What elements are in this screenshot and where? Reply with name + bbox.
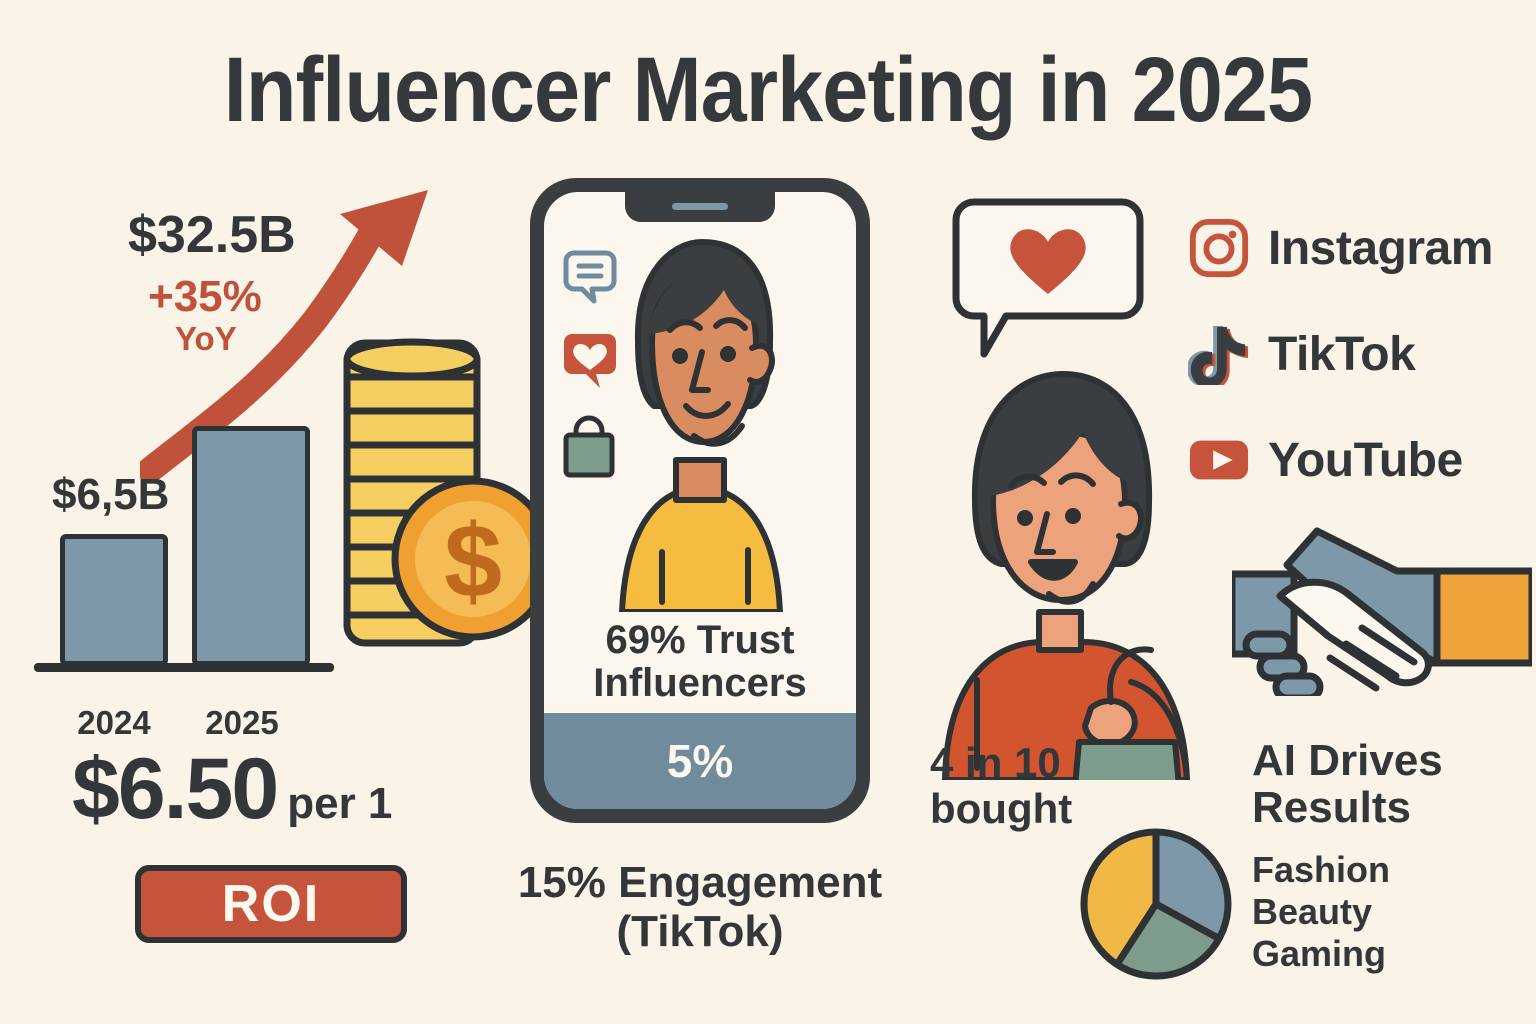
svg-text:$: $ [444, 504, 502, 620]
platform-list: Instagram TikTok YouTube [1188, 206, 1493, 524]
shopper-caption-line-1: 4 in 10 [930, 740, 1072, 786]
trust-line-1: 69% Trust [544, 619, 856, 662]
ai-category-gaming: Gaming [1252, 933, 1522, 975]
phone-screen: 69% Trust Influencers 5% [544, 192, 856, 809]
platform-row-instagram[interactable]: Instagram [1188, 206, 1493, 290]
engagement-badge-value: 5% [667, 734, 733, 788]
spend-bar-chart: 2024 2025 [30, 420, 370, 690]
phone-icon-column [558, 247, 624, 484]
platform-row-tiktok[interactable]: TikTok [1188, 312, 1493, 396]
heart-speech-bubble [948, 196, 1148, 371]
phone-caption: 15% Engagement (TikTok) [460, 858, 940, 957]
roi-value-line: $6.50 per 1 [72, 740, 392, 839]
phone-caption-line-2: (TikTok) [460, 907, 940, 956]
phone-notch [625, 192, 775, 222]
categories-pie-chart [1078, 826, 1234, 987]
trust-line-2: Influencers [544, 662, 856, 705]
ai-results-block: AI Drives Results Fashion Beauty Gaming [1252, 738, 1522, 976]
platform-label-tiktok: TikTok [1268, 327, 1415, 382]
shopper-illustration [915, 350, 1225, 785]
ai-heading-line-2: Results [1252, 785, 1522, 832]
youtube-icon [1188, 429, 1250, 491]
shopper-caption-line-2: bought [930, 786, 1072, 832]
ai-category-beauty: Beauty [1252, 891, 1522, 933]
comment-icon [558, 247, 622, 311]
tiktok-icon [1188, 323, 1250, 385]
shopping-bag-icon [558, 413, 620, 479]
shopper-caption: 4 in 10 bought [930, 740, 1072, 832]
page-title: Influencer Marketing in 2025 [77, 38, 1459, 143]
platform-label-instagram: Instagram [1268, 221, 1493, 276]
trust-stat-panel: 69% Trust Influencers [544, 613, 856, 713]
heart-icon [558, 330, 622, 396]
phone-caption-line-1: 15% Engagement [460, 858, 940, 907]
roi-button[interactable]: ROI [135, 865, 407, 943]
instagram-icon [1188, 217, 1250, 279]
roi-amount: $6.50 [72, 740, 277, 839]
yoy-change-value: +35% [148, 272, 262, 322]
handshake-icon [1232, 516, 1532, 701]
coin-stack-icon: $ [335, 325, 550, 680]
ai-category-list: Fashion Beauty Gaming [1252, 849, 1522, 975]
roi-per-label: per 1 [287, 779, 392, 829]
yoy-label: YoY [175, 320, 237, 358]
infographic-canvas: Influencer Marketing in 2025 $32.5B +35%… [0, 0, 1536, 1024]
bar-2024 [60, 534, 168, 666]
ai-category-fashion: Fashion [1252, 849, 1522, 891]
bar-label-2025: 2025 [182, 704, 302, 742]
platform-label-youtube: YouTube [1268, 433, 1463, 488]
platform-row-youtube[interactable]: YouTube [1188, 418, 1493, 502]
spend-2025-value: $32.5B [128, 205, 296, 265]
engagement-badge: 5% [544, 713, 856, 809]
bar-label-2024: 2024 [54, 704, 174, 742]
phone-mockup: 69% Trust Influencers 5% [530, 178, 870, 823]
phone-speaker [672, 203, 728, 210]
chart-axis [34, 663, 334, 672]
ai-heading-line-1: AI Drives [1252, 738, 1522, 785]
roi-button-label: ROI [222, 874, 320, 934]
bar-2025 [192, 426, 310, 666]
